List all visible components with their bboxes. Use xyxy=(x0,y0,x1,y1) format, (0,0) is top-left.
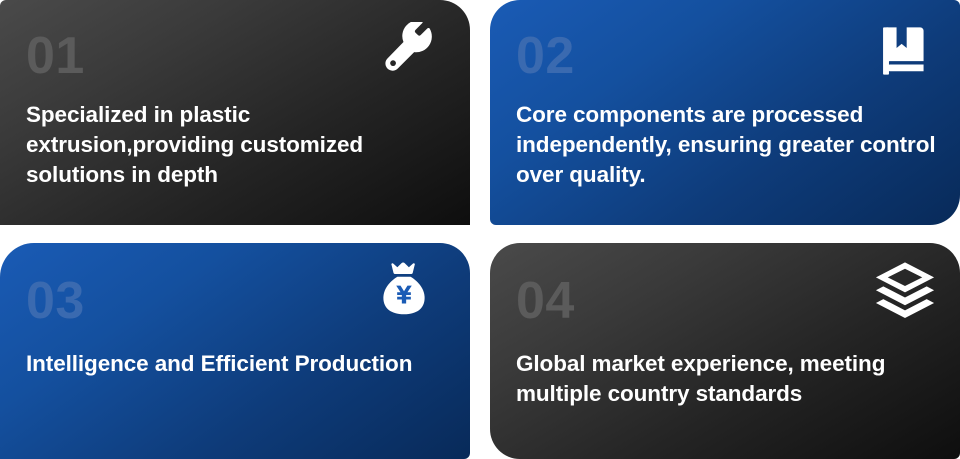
card-inner: 02 Core components are processed indepen… xyxy=(490,0,960,225)
card-number: 02 xyxy=(516,30,575,82)
wrench-icon xyxy=(382,22,440,80)
card-number: 04 xyxy=(516,275,575,327)
feature-card-03[interactable]: 03 Intelligence and Efficient Production xyxy=(0,243,470,459)
money-bag-yen-icon xyxy=(374,258,434,318)
card-description: Global market experience, meeting multip… xyxy=(516,349,930,409)
card-inner: 01 Specialized in plastic extrusion,prov… xyxy=(0,0,470,225)
book-bookmark-icon xyxy=(878,24,932,78)
card-inner: 04 Global market experience, meeting mul… xyxy=(490,243,960,459)
feature-card-01[interactable]: 01 Specialized in plastic extrusion,prov… xyxy=(0,0,470,225)
card-description: Intelligence and Efficient Production xyxy=(26,349,440,379)
card-number: 01 xyxy=(26,30,85,82)
card-inner: 03 Intelligence and Efficient Production xyxy=(0,243,470,459)
card-number: 03 xyxy=(26,275,85,327)
layers-stack-icon xyxy=(874,259,936,321)
feature-card-02[interactable]: 02 Core components are processed indepen… xyxy=(490,0,960,225)
card-description: Core components are processed independen… xyxy=(516,100,942,190)
card-description: Specialized in plastic extrusion,providi… xyxy=(26,100,430,190)
feature-card-04[interactable]: 04 Global market experience, meeting mul… xyxy=(490,243,960,459)
feature-card-grid: 01 Specialized in plastic extrusion,prov… xyxy=(0,0,960,459)
